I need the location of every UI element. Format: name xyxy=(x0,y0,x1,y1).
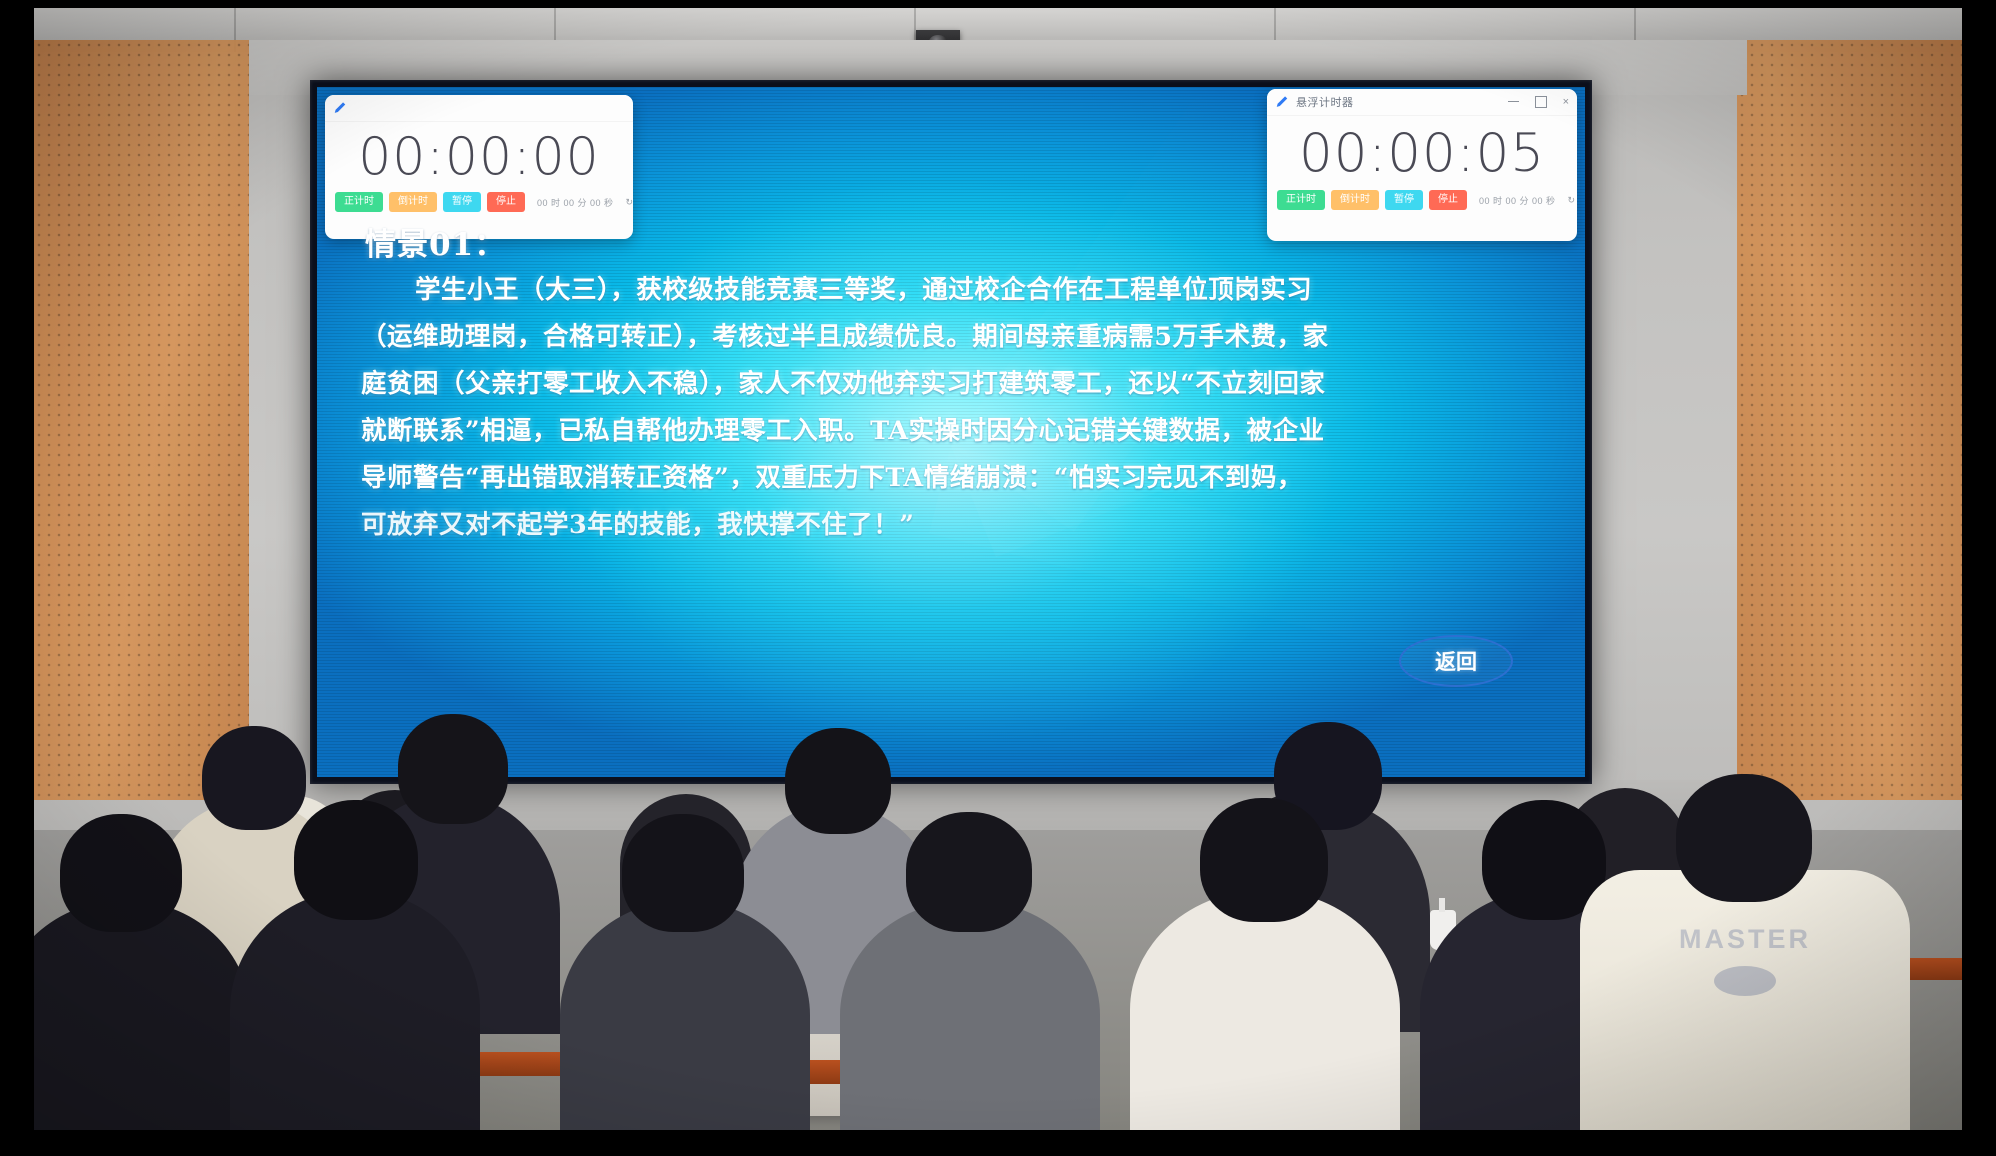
timer-left-duration-setting[interactable]: 00 时 00 分 00 秒 xyxy=(537,196,614,209)
timer-left-display: 00:00:00 xyxy=(325,122,633,188)
letterbox-top xyxy=(0,0,1996,8)
close-icon[interactable]: × xyxy=(1563,97,1569,108)
audience-member xyxy=(230,890,480,1130)
count-down-button[interactable]: 倒计时 xyxy=(1331,190,1379,210)
slide-title: 情景01： xyxy=(365,219,506,264)
minimize-icon[interactable] xyxy=(1508,101,1519,102)
led-screen-frame: 00:00:00 正计时 倒计时 暂停 停止 00 时 00 分 00 秒 ↻ … xyxy=(310,80,1592,784)
hoodie-text: MASTER xyxy=(1580,924,1910,955)
audience-member-master-hoodie: MASTER xyxy=(1580,870,1910,1130)
slide-line: 导师警告“再出错取消转正资格”，双重压力下TA情绪崩溃：“怕实习完见不到妈， xyxy=(339,455,1569,502)
hoodie-emblem xyxy=(1714,966,1776,996)
stop-button[interactable]: 停止 xyxy=(487,192,525,212)
timer-right-titlebar[interactable]: 悬浮计时器 × xyxy=(1267,89,1577,116)
audience-member xyxy=(840,900,1100,1130)
led-screen: 00:00:00 正计时 倒计时 暂停 停止 00 时 00 分 00 秒 ↻ … xyxy=(317,87,1585,777)
back-button[interactable]: 返回 xyxy=(1399,635,1513,687)
screenshot-root: 00:00:00 正计时 倒计时 暂停 停止 00 时 00 分 00 秒 ↻ … xyxy=(0,0,1996,1156)
slide-line: 庭贫困（父亲打零工收入不稳），家人不仅劝他弃实习打建筑零工，还以“不立刻回家 xyxy=(339,361,1569,408)
refresh-icon[interactable]: ↻ xyxy=(1568,195,1576,206)
letterbox-bottom xyxy=(0,1130,1996,1156)
audience-member xyxy=(560,900,810,1130)
refresh-icon[interactable]: ↻ xyxy=(626,197,633,208)
audience-member xyxy=(0,900,250,1130)
slide-line: （运维助理岗，合格可转正），考核过半且成绩优良。期间母亲重病需5万手术费，家 xyxy=(339,314,1569,361)
timer-window-left[interactable]: 00:00:00 正计时 倒计时 暂停 停止 00 时 00 分 00 秒 ↻ xyxy=(325,95,633,239)
pen-logo-icon xyxy=(333,101,347,115)
slide-line: 可放弃又对不起学3年的技能，我快撑不住了！” xyxy=(339,502,1569,549)
pen-logo-icon xyxy=(1275,95,1289,109)
timer-right-display: 00:00:05 xyxy=(1267,116,1577,186)
wall-panel-left xyxy=(34,40,249,800)
audience-area: MASTER xyxy=(0,710,1996,1130)
window-controls: × xyxy=(1508,96,1569,108)
letterbox-right xyxy=(1962,0,1996,1156)
count-up-button[interactable]: 正计时 xyxy=(1277,190,1325,210)
count-up-button[interactable]: 正计时 xyxy=(335,192,383,212)
slide-body: 学生小王（大三），获校级技能竞赛三等奖，通过校企合作在工程单位顶岗实习 （运维助… xyxy=(339,267,1569,549)
timer-left-titlebar[interactable] xyxy=(325,95,633,122)
stop-button[interactable]: 停止 xyxy=(1429,190,1467,210)
count-down-button[interactable]: 倒计时 xyxy=(389,192,437,212)
timer-window-right[interactable]: 悬浮计时器 × 00:00:05 正计时 倒计时 暂停 停止 00 时 00 分… xyxy=(1267,89,1577,241)
timer-right-title: 悬浮计时器 xyxy=(1296,94,1354,110)
slide-line: 学生小王（大三），获校级技能竞赛三等奖，通过校企合作在工程单位顶岗实习 xyxy=(339,267,1569,314)
pause-button[interactable]: 暂停 xyxy=(443,192,481,212)
pause-button[interactable]: 暂停 xyxy=(1385,190,1423,210)
timer-left-buttons: 正计时 倒计时 暂停 停止 00 时 00 分 00 秒 ↻ xyxy=(325,188,633,212)
letterbox-left xyxy=(0,0,34,1156)
timer-right-duration-setting[interactable]: 00 时 00 分 00 秒 xyxy=(1479,194,1556,207)
audience-member xyxy=(1130,890,1400,1130)
timer-right-buttons: 正计时 倒计时 暂停 停止 00 时 00 分 00 秒 ↻ xyxy=(1267,186,1577,210)
wall-panel-right xyxy=(1737,40,1962,800)
slide-line: 就断联系”相逼，已私自帮他办理零工入职。TA实操时因分心记错关键数据，被企业 xyxy=(339,408,1569,455)
maximize-icon[interactable] xyxy=(1535,96,1547,108)
